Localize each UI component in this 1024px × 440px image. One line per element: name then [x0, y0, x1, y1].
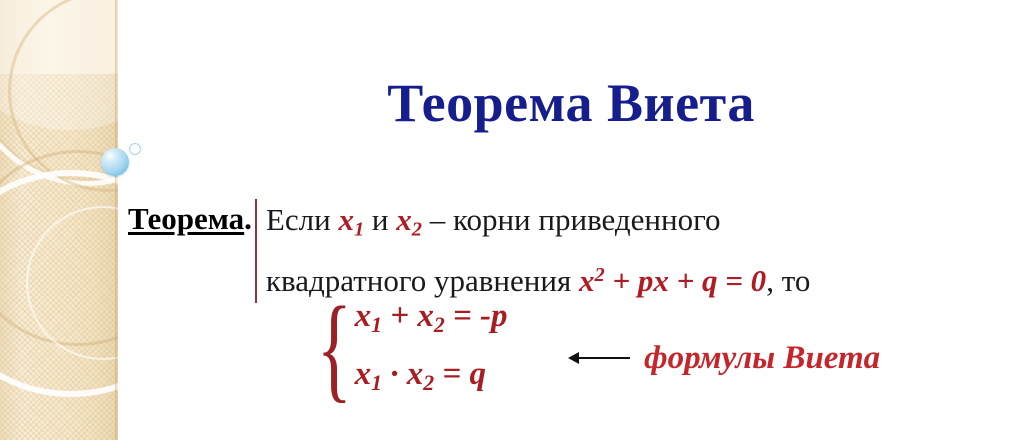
theorem-statement: Теорема. Если x1 и x2 – корни приведенно… [128, 197, 810, 303]
statement-line-1: Если x1 и x2 – корни приведенного [266, 197, 810, 253]
blue-bubble-small-icon [129, 143, 141, 155]
variable-x1-subscript: 1 [354, 219, 364, 241]
equation-sum-lhs-subscript: 1 [371, 313, 382, 337]
decorative-sidebar-panel [0, 0, 118, 440]
equation-product-rhs-subscript: 2 [423, 371, 434, 395]
line1-conjunction: и [364, 202, 396, 237]
equation-product-lhs: x [355, 356, 372, 392]
theorem-label-word: Теорема [128, 201, 244, 236]
equation-list: x1 + x2 = -p x1 · x2 = q [355, 292, 508, 408]
equation-product-operator: · [382, 356, 407, 392]
page-title: Теорема Виета [118, 74, 1024, 132]
equation-sum: x1 + x2 = -p [355, 292, 508, 350]
variable-x1: x1 [338, 202, 364, 237]
quadratic-exponent: 2 [594, 264, 604, 286]
annotation-caption: формулы Виета [644, 339, 880, 377]
equation-sum-lhs: x [355, 298, 372, 334]
left-arrow-icon [568, 349, 630, 367]
line2-after: , то [766, 263, 810, 298]
equation-sum-rhs: x [417, 298, 434, 334]
equation-product-lhs-subscript: 1 [371, 371, 382, 395]
variable-x1-base: x [338, 202, 354, 237]
variable-x2-base: x [396, 202, 412, 237]
sidebar-right-edge [115, 0, 118, 440]
theorem-label-period: . [244, 201, 252, 236]
equation-product-tail: = q [434, 356, 486, 392]
quadratic-base: x [579, 263, 595, 298]
statement-divider-rule [255, 199, 257, 303]
line1-before: Если [266, 202, 339, 237]
blue-bubble-large-icon [101, 148, 129, 176]
line1-after: – корни приведенного [422, 202, 721, 237]
equation-sum-operator: + [382, 298, 417, 334]
vieta-formulas-annotation: формулы Виета [568, 339, 880, 377]
equation-product-rhs: x [407, 356, 424, 392]
left-arrow-shaft [576, 357, 630, 359]
variable-x2: x2 [396, 202, 422, 237]
variable-x2-subscript: 2 [412, 219, 422, 241]
equation-sum-tail: = -p [445, 298, 508, 334]
quadratic-equation: x2 + px + q = 0 [579, 263, 766, 298]
equation-sum-rhs-subscript: 2 [434, 313, 445, 337]
theorem-label: Теорема. [128, 197, 252, 241]
sidebar-sheen [0, 0, 118, 130]
curly-brace-icon: { [317, 296, 352, 400]
slide-canvas: Теорема Виета Теорема. Если x1 и x2 – ко… [0, 0, 1024, 440]
quadratic-rest: + px + q = 0 [605, 263, 767, 298]
vieta-system: { x1 + x2 = -p x1 · x2 = q [306, 292, 508, 408]
equation-product: x1 · x2 = q [355, 350, 508, 408]
